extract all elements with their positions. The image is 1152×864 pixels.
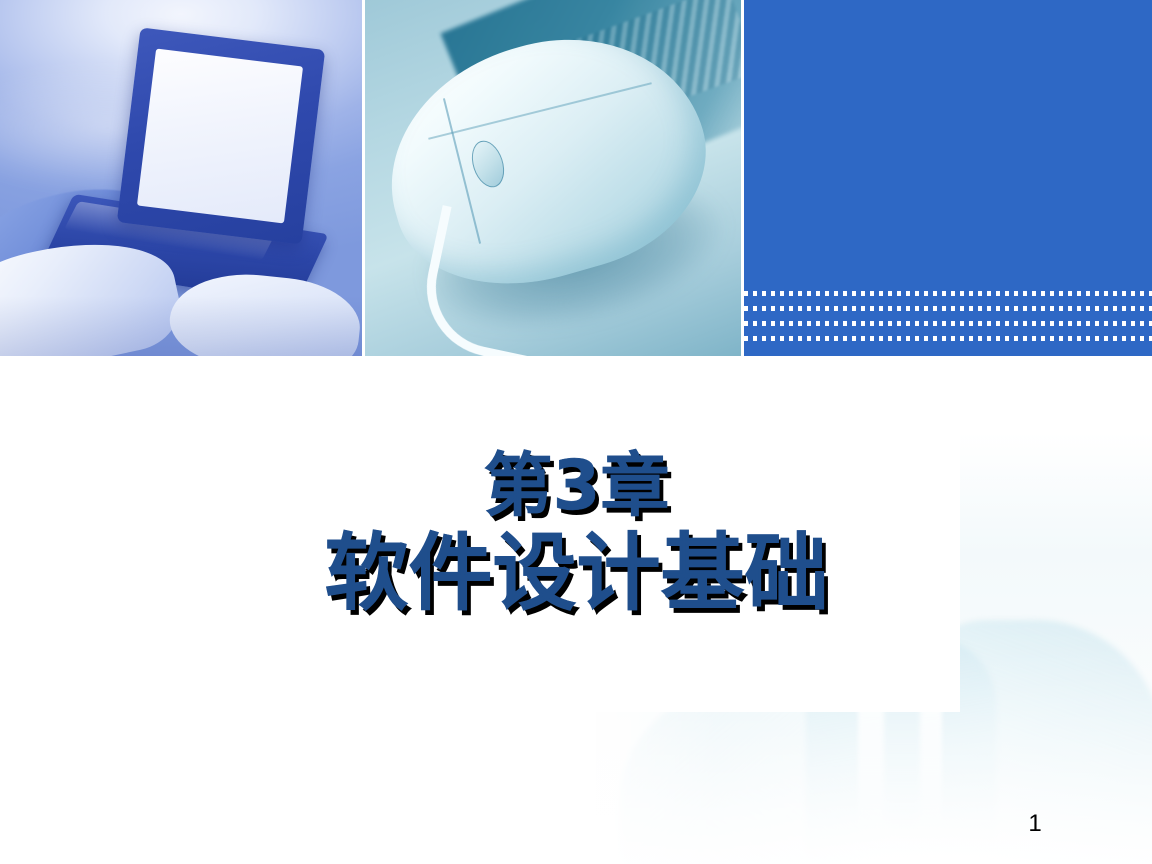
dotted-line-1 xyxy=(744,291,1152,296)
blue-dotted-panel xyxy=(744,0,1152,356)
slide-title-line-2: 软件设计基础 xyxy=(193,531,960,615)
slide-title-line-1: 第3章 xyxy=(193,452,960,521)
page-number: 1 xyxy=(1020,810,1050,838)
banner-image-band xyxy=(0,0,1152,356)
slide-title: 第3章 软件设计基础 xyxy=(193,452,960,615)
laptop-photo xyxy=(0,0,362,356)
dotted-line-4 xyxy=(744,336,1152,341)
slide-canvas: 第3章 软件设计基础 1 xyxy=(0,0,1152,864)
dotted-line-3 xyxy=(744,321,1152,326)
mouse-photo xyxy=(365,0,741,356)
dotted-line-2 xyxy=(744,306,1152,311)
laptop-photo-screen xyxy=(137,49,303,224)
laptop-photo-shadow xyxy=(0,296,362,356)
